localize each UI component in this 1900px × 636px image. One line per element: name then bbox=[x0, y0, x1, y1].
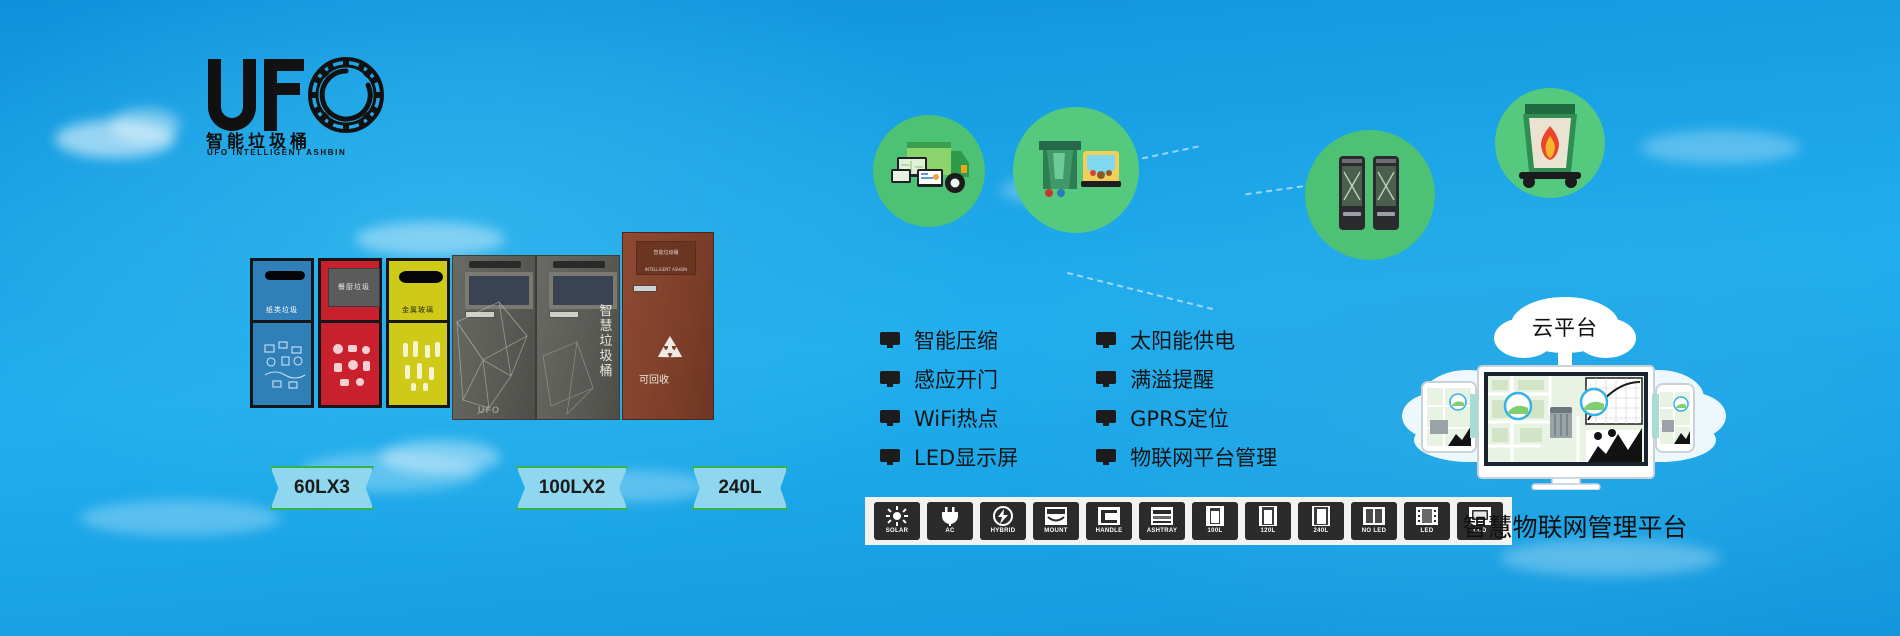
led-icon bbox=[1412, 505, 1442, 527]
spec-label: 120L bbox=[1261, 527, 1276, 536]
feature-label: GPRS定位 bbox=[1130, 403, 1229, 433]
spec-label: 240L bbox=[1314, 527, 1329, 536]
spec-label: SOLAR bbox=[886, 527, 909, 536]
brown-bin-body: 智能垃圾桶 INTELLIGENT ASHBIN 可回收 bbox=[622, 232, 714, 420]
ufo-wordmark-icon bbox=[200, 55, 390, 133]
sun-icon bbox=[882, 505, 912, 527]
kitchen-litter-graphic bbox=[327, 337, 379, 393]
feature-label: 物联网平台管理 bbox=[1130, 442, 1277, 472]
spec-ac: AC bbox=[927, 502, 973, 540]
spec-label: HANDLE bbox=[1096, 527, 1123, 536]
tag-100lx2: 100LX2 bbox=[516, 466, 628, 510]
spec-label: AC bbox=[945, 527, 954, 536]
garbage-truck-icon bbox=[873, 115, 985, 227]
polygon-pattern-graphic bbox=[537, 296, 621, 416]
panel-display: 餐厨垃圾 bbox=[328, 268, 380, 307]
cabinet-top-cap bbox=[553, 261, 605, 268]
spec-label: NO LED bbox=[1362, 527, 1386, 536]
tag-240l: 240L bbox=[692, 466, 788, 510]
panel-bottom bbox=[253, 323, 311, 405]
spec-icon-strip: SOLAR AC HYBRID MOUNT bbox=[865, 497, 1512, 545]
panel-label: 金属玻璃 bbox=[389, 305, 447, 315]
feature-column-right: 太阳能供电 满溢提醒 GPRS定位 物联网平台管理 bbox=[1096, 325, 1277, 472]
cabinet-brand-mark: UFO bbox=[478, 405, 500, 415]
cabinet-top-cap bbox=[469, 261, 521, 268]
monitor-bullet-icon bbox=[1096, 371, 1116, 387]
panel-top: 金属玻璃 bbox=[389, 261, 447, 323]
metal-glass-litter-graphic bbox=[395, 337, 447, 393]
tag-label: 100LX2 bbox=[539, 477, 606, 499]
spec-label: HYBRID bbox=[991, 527, 1016, 536]
spec-mount: MOUNT bbox=[1033, 502, 1079, 540]
handle-icon bbox=[1094, 505, 1124, 527]
bin-panel-kitchen: 餐厨垃圾 bbox=[318, 258, 382, 408]
plate-en-text: INTELLIGENT ASHBIN bbox=[637, 265, 695, 274]
hybrid-power-icon bbox=[988, 505, 1018, 527]
feature-label: WiFi热点 bbox=[914, 403, 999, 433]
spec-hybrid: HYBRID bbox=[980, 502, 1026, 540]
feature-item: LED显示屏 bbox=[880, 442, 1018, 472]
dashed-connector bbox=[1067, 272, 1213, 310]
monitor-bullet-icon bbox=[1096, 332, 1116, 348]
feature-item: 感应开门 bbox=[880, 364, 1018, 394]
spec-100l: 100L bbox=[1192, 502, 1238, 540]
monitor-bullet-icon bbox=[1096, 449, 1116, 465]
mount-icon bbox=[1041, 505, 1071, 527]
polygon-pattern-graphic bbox=[453, 296, 537, 416]
brown-bin-plate: 智能垃圾桶 INTELLIGENT ASHBIN bbox=[636, 241, 696, 275]
plug-icon bbox=[935, 505, 965, 527]
paper-litter-graphic bbox=[259, 337, 311, 393]
feature-item: 物联网平台管理 bbox=[1096, 442, 1277, 472]
spec-solar: SOLAR bbox=[874, 502, 920, 540]
feature-item: WiFi热点 bbox=[880, 403, 1018, 433]
spec-label: 100L bbox=[1208, 527, 1223, 536]
logo-english-name: UFO INTELLIGENT ASHBIN bbox=[207, 148, 387, 157]
cabinet-left bbox=[452, 255, 536, 420]
bin-120l-icon bbox=[1253, 505, 1283, 527]
cloud-decoration bbox=[1500, 540, 1720, 576]
feature-item: 满溢提醒 bbox=[1096, 364, 1277, 394]
bin-100l-x2: 智慧垃圾桶 UFO bbox=[452, 255, 620, 420]
feature-label: LED显示屏 bbox=[914, 442, 1018, 472]
spec-label: MOUNT bbox=[1044, 527, 1068, 536]
cloud-decoration bbox=[1640, 130, 1800, 164]
cloud-decoration bbox=[80, 500, 280, 536]
spec-label: ASHTRAY bbox=[1147, 527, 1178, 536]
recycle-label: 可回收 bbox=[623, 371, 685, 386]
product-banner: 智能垃圾桶 UFO INTELLIGENT ASHBIN 纸类垃圾 bbox=[0, 0, 1900, 636]
bin-panel-metal-glass: 金属玻璃 bbox=[386, 258, 450, 408]
deposit-slot-icon bbox=[399, 271, 443, 283]
tag-label: 240L bbox=[718, 477, 761, 499]
brand-logo: 智能垃圾桶 UFO INTELLIGENT ASHBIN bbox=[200, 55, 390, 160]
tag-label: 60LX3 bbox=[294, 477, 350, 499]
spec-label: LED bbox=[1421, 527, 1434, 536]
bin-60l-x3: 纸类垃圾 餐厨垃圾 bbox=[250, 258, 450, 408]
fire-detect-circle bbox=[1495, 88, 1605, 198]
dual-bin-icon bbox=[1305, 130, 1435, 260]
panel-top: 餐厨垃圾 bbox=[321, 261, 379, 323]
panel-top: 纸类垃圾 bbox=[253, 261, 311, 323]
monitor-bullet-icon bbox=[1096, 410, 1116, 426]
fire-detection-icon bbox=[1495, 88, 1605, 198]
spec-ashtray: ASHTRAY bbox=[1139, 502, 1185, 540]
bin-100l-icon bbox=[1200, 505, 1230, 527]
brown-bin-handle bbox=[633, 285, 657, 292]
bin-panel-paper: 纸类垃圾 bbox=[250, 258, 314, 408]
feature-item: GPRS定位 bbox=[1096, 403, 1277, 433]
feature-item: 智能压缩 bbox=[880, 325, 1018, 355]
feature-label: 智能压缩 bbox=[914, 325, 998, 355]
spec-240l: 240L bbox=[1298, 502, 1344, 540]
tag-60lx3: 60LX3 bbox=[270, 466, 374, 510]
panel-bottom bbox=[321, 323, 379, 405]
panel-bottom bbox=[389, 323, 447, 405]
monitor-bullet-icon bbox=[880, 332, 900, 348]
deposit-slot-icon bbox=[265, 271, 305, 280]
cabinet-right: 智慧垃圾桶 bbox=[536, 255, 620, 420]
bin-240l: 智能垃圾桶 INTELLIGENT ASHBIN 可回收 bbox=[622, 232, 732, 420]
bin-240l-icon bbox=[1306, 505, 1336, 527]
feature-list: 智能压缩 感应开门 WiFi热点 LED显示屏 太阳能供电 满溢提醒 bbox=[880, 325, 1277, 472]
no-led-icon bbox=[1359, 505, 1389, 527]
dual-bin-circle bbox=[1305, 130, 1435, 260]
feature-item: 太阳能供电 bbox=[1096, 325, 1277, 355]
feature-label: 太阳能供电 bbox=[1130, 325, 1235, 355]
feature-label: 满溢提醒 bbox=[1130, 364, 1214, 394]
compaction-circle bbox=[1013, 107, 1139, 233]
monitor-bullet-icon bbox=[880, 449, 900, 465]
monitor-bullet-icon bbox=[880, 410, 900, 426]
monitor-bullet-icon bbox=[880, 371, 900, 387]
spec-120l: 120L bbox=[1245, 502, 1291, 540]
panel-label: 纸类垃圾 bbox=[253, 305, 311, 315]
feature-column-left: 智能压缩 感应开门 WiFi热点 LED显示屏 bbox=[880, 325, 1018, 472]
panel-display-text: 餐厨垃圾 bbox=[329, 269, 379, 306]
ashtray-icon bbox=[1147, 505, 1177, 527]
spec-no-led: NO LED bbox=[1351, 502, 1397, 540]
plate-cn-text: 智能垃圾桶 bbox=[637, 249, 695, 258]
collection-truck-circle bbox=[873, 115, 985, 227]
cloud-decoration bbox=[380, 440, 500, 474]
cloud-decoration bbox=[110, 108, 180, 142]
cloud-decoration bbox=[355, 222, 505, 256]
spec-handle: HANDLE bbox=[1086, 502, 1132, 540]
recycle-icon bbox=[653, 333, 687, 367]
cloud-platform-diagram: 云平台 bbox=[1400, 290, 1730, 490]
cloud-platform-label: 云平台 bbox=[1508, 312, 1622, 342]
compaction-icon bbox=[1013, 107, 1139, 233]
platform-title: 智慧物联网管理平台 bbox=[1440, 508, 1710, 544]
feature-label: 感应开门 bbox=[914, 364, 998, 394]
